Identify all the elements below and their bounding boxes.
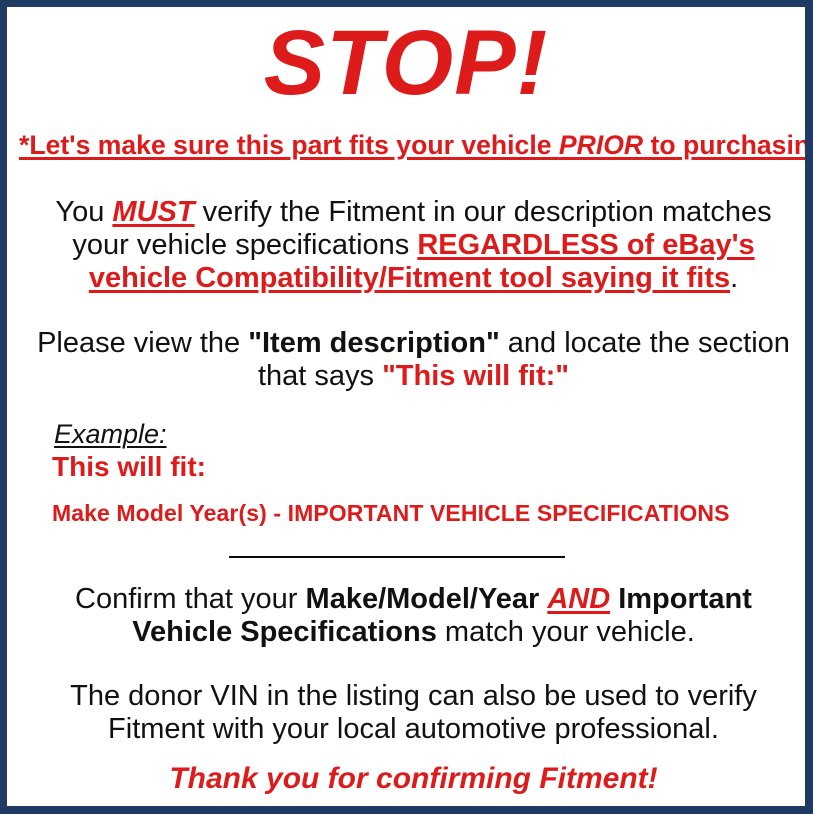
must-verify-paragraph: You MUST verify the Fitment in our descr… [29, 196, 798, 295]
make-model-year-emphasis: Make/Model/Year [306, 583, 540, 615]
must-part-3: . [730, 262, 738, 294]
confirm-part-4: match your vehicle. [437, 616, 695, 648]
view-part-1: Please view the [37, 327, 248, 359]
subtitle-lead-text: *Let's make sure this part fits your veh… [19, 130, 559, 160]
must-emphasis: MUST [112, 196, 194, 228]
stop-headline: STOP! [7, 15, 805, 111]
confirm-part-3 [610, 583, 618, 615]
fitment-subtitle: *Let's make sure this part fits your veh… [19, 129, 796, 161]
example-fit-heading: This will fit: [52, 451, 206, 483]
section-divider [229, 556, 565, 558]
view-description-paragraph: Please view the "Item description" and l… [29, 327, 798, 393]
must-part-1: You [55, 196, 112, 228]
fitment-notice-frame: STOP! *Let's make sure this part fits yo… [0, 0, 813, 814]
and-emphasis: AND [547, 583, 610, 615]
example-spec-line: Make Model Year(s) - IMPORTANT VEHICLE S… [52, 499, 730, 527]
subtitle-prior-emphasis: PRIOR [559, 130, 643, 160]
closing-thanks: Thank you for confirming Fitment! [29, 762, 798, 796]
this-will-fit-emphasis: "This will fit:" [382, 360, 569, 392]
fitment-notice-sheet: STOP! *Let's make sure this part fits yo… [7, 7, 805, 806]
vin-paragraph: The donor VIN in the listing can also be… [29, 680, 798, 746]
confirm-part-1: Confirm that your [75, 583, 305, 615]
subtitle-tail-text: to purchasing* [643, 130, 805, 160]
confirm-paragraph: Confirm that your Make/Model/Year AND Im… [29, 583, 798, 649]
item-description-emphasis: "Item description" [248, 327, 499, 359]
example-label: Example: [54, 419, 167, 449]
